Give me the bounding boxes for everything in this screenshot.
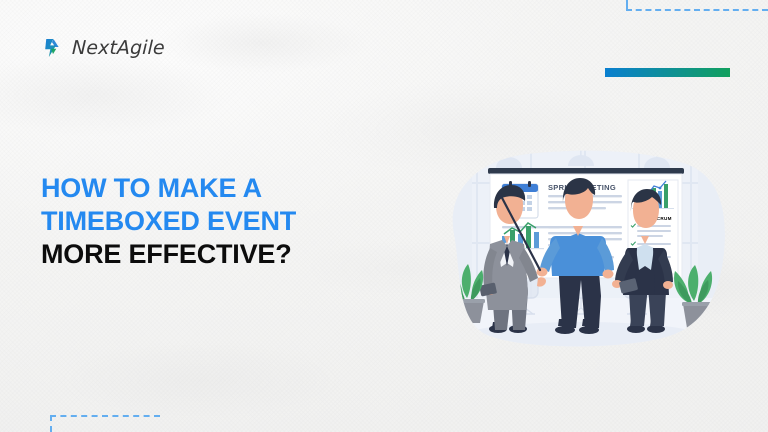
slide-canvas: NextAgile HOW TO MAKE A TIMEBOXED EVENT … [0,0,768,432]
dashed-bracket-bottom-left [0,404,160,432]
bracket-vertical-line [50,415,52,432]
page-title: HOW TO MAKE A TIMEBOXED EVENT MORE EFFEC… [41,172,421,271]
accent-gradient-bar [605,68,730,77]
nextagile-arrow-logo-icon [41,36,65,60]
headline-line-3: MORE EFFECTIVE? [41,238,421,271]
bracket-horizontal-line [50,415,160,417]
brand-logo[interactable]: NextAgile [41,36,165,60]
sprint-meeting-team-illustration: SPRINT MEETING [432,138,732,363]
dashed-bracket-top-right [618,0,768,24]
headline-line-2: TIMEBOXED EVENT [41,205,421,238]
brand-name: NextAgile [72,37,166,59]
bracket-horizontal-line [626,9,768,11]
office-scene: SPRINT MEETING [432,146,732,358]
headline-line-1: HOW TO MAKE A [41,172,421,205]
